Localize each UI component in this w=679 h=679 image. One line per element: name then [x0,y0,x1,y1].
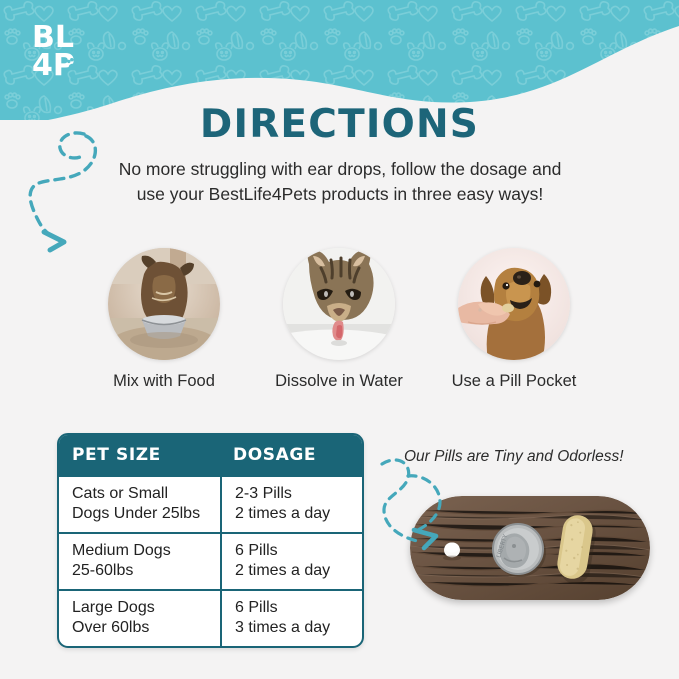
dashed-arrow-icon [378,452,482,568]
method-label: Dissolve in Water [263,372,415,391]
cell-pet-size: Medium Dogs 25-60lbs [59,534,220,589]
table-header-row: PET SIZE DOSAGE [59,435,362,475]
brand-logo[interactable]: BL 4P [29,19,91,81]
table-row: Large Dogs Over 60lbs 6 Pills 3 times a … [59,589,362,646]
cell-dosage: 2-3 Pills 2 times a day [220,477,362,532]
pet-size-line-1: Medium Dogs [72,541,220,561]
pet-size-line-2: Over 60lbs [72,618,220,638]
table-row: Cats or Small Dogs Under 25lbs 2-3 Pills… [59,475,362,532]
logo-text-4p: 4P [32,48,75,81]
dosage-line-1: 2-3 Pills [235,484,362,504]
method-label: Mix with Food [88,372,240,391]
arrowhead-icon [414,530,436,548]
column-header-pet-size: PET SIZE [59,435,220,475]
pet-size-line-2: Dogs Under 25lbs [72,504,220,524]
method-mix-with-food[interactable]: Mix with Food [88,248,240,391]
dosage-table: PET SIZE DOSAGE Cats or Small Dogs Under… [57,433,364,648]
pet-size-line-1: Large Dogs [72,598,220,618]
arrowhead-icon [44,232,64,250]
cat-drinking-water-photo [283,248,395,360]
dosage-line-1: 6 Pills [235,541,362,561]
method-label: Use a Pill Pocket [438,372,590,391]
cell-dosage: 6 Pills 3 times a day [220,591,362,646]
column-header-dosage: DOSAGE [220,435,362,475]
method-use-a-pill-pocket[interactable]: Use a Pill Pocket [438,248,590,391]
hand-feeding-dog-treat-photo [458,248,570,360]
page-subtitle: No more struggling with ear drops, follo… [112,157,568,207]
pet-size-line-2: 25-60lbs [72,561,220,581]
cell-pet-size: Large Dogs Over 60lbs [59,591,220,646]
infographic-page: BL 4P DIRECTIONS No more struggling with… [0,0,679,679]
dog-eating-from-bowl-photo [108,248,220,360]
dosage-line-2: 2 times a day [235,504,362,524]
pet-size-line-1: Cats or Small [72,484,220,504]
dosage-line-2: 3 times a day [235,618,362,638]
cell-dosage: 6 Pills 2 times a day [220,534,362,589]
table-row: Medium Dogs 25-60lbs 6 Pills 2 times a d… [59,532,362,589]
methods-section: Mix with Food [0,248,679,398]
cell-pet-size: Cats or Small Dogs Under 25lbs [59,477,220,532]
dashed-curved-arrow-icon [8,128,104,268]
dosage-line-2: 2 times a day [235,561,362,581]
dosage-line-1: 6 Pills [235,598,362,618]
method-dissolve-in-water[interactable]: Dissolve in Water [263,248,415,391]
